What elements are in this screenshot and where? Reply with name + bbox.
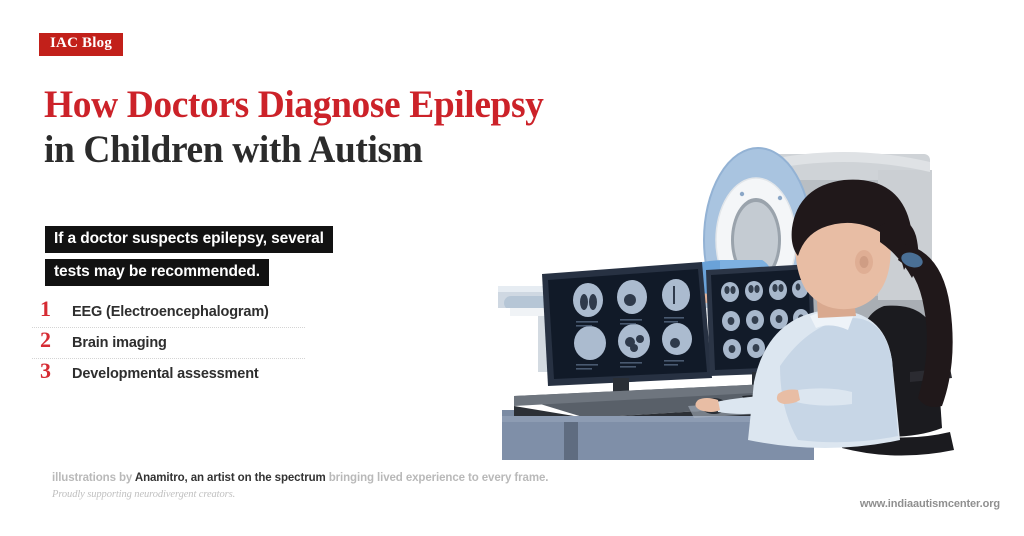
list-item-label: Developmental assessment <box>72 367 259 382</box>
list-item-number: 2 <box>40 329 72 351</box>
website-url: www.indiaautismcenter.org <box>860 498 1000 510</box>
subtitle-line-2: tests may be recommended. <box>45 259 269 286</box>
list-item-number: 3 <box>40 360 72 382</box>
list-item-label: Brain imaging <box>72 336 167 351</box>
list-item: 1 EEG (Electroencephalogram) <box>40 298 360 329</box>
tests-list: 1 EEG (Electroencephalogram) 2 Brain ima… <box>40 298 360 391</box>
credit-suffix: bringing lived experience to every frame… <box>326 472 549 484</box>
credit-subline: Proudly supporting neurodivergent creato… <box>52 489 652 500</box>
list-item: 2 Brain imaging <box>40 329 360 360</box>
left-monitor <box>542 262 712 408</box>
credit-prefix: illustrations by <box>52 472 135 484</box>
list-item: 3 Developmental assessment <box>40 360 360 391</box>
iac-blog-badge: IAC Blog <box>39 33 123 56</box>
footer-credits: illustrations by Anamitro, an artist on … <box>52 472 652 500</box>
credit-artist: Anamitro, an artist on the spectrum <box>135 472 326 484</box>
subtitle-block: If a doctor suspects epilepsy, several t… <box>45 226 333 286</box>
list-item-label: EEG (Electroencephalogram) <box>72 305 269 320</box>
list-divider <box>32 327 305 328</box>
blog-graphic-poster: IAC Blog How Doctors Diagnose Epilepsy i… <box>0 0 1024 536</box>
subtitle-line-1: If a doctor suspects epilepsy, several <box>45 226 333 253</box>
list-divider <box>32 358 305 359</box>
radiology-illustration <box>480 110 1024 460</box>
illustration-credit: illustrations by Anamitro, an artist on … <box>52 472 652 484</box>
list-item-number: 1 <box>40 298 72 320</box>
